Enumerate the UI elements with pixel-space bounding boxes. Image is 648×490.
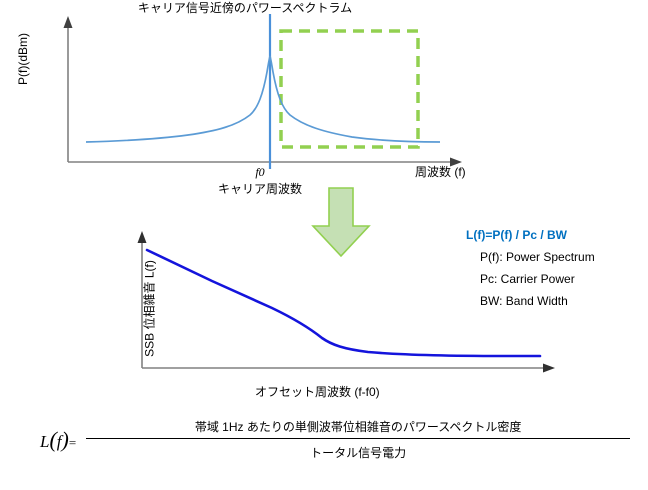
top-chart-y-axis-label: P(f)(dBm) [16, 14, 30, 104]
definition-legend: L(f)=P(f) / Pc / BW P(f): Power Spectrum… [466, 228, 648, 316]
formula-left-hand-side: L(f)= [40, 427, 86, 453]
legend-item-band-width: BW: Band Width [480, 294, 648, 308]
formula-denominator: トータル信号電力 [86, 439, 630, 461]
formula-lhs-equals: = [69, 435, 76, 450]
legend-item-power-spectrum: P(f): Power Spectrum [480, 250, 648, 264]
formula-lhs-open-paren: ( [49, 427, 56, 452]
formula-lhs-close-paren: ) [62, 427, 69, 452]
bottom-chart-y-axis-arrowhead [138, 231, 147, 243]
carrier-frequency-caption: キャリア周波数 [200, 180, 320, 197]
top-chart-x-axis-label: 周波数 (f) [415, 163, 466, 180]
bottom-chart-x-axis-arrowhead [543, 364, 555, 373]
phase-noise-definition-formula: L(f)= 帯域 1Hz あたりの単側波帯位相雑音のパワースペクトル密度 トータ… [40, 418, 630, 461]
top-chart-y-axis-arrowhead [64, 16, 73, 28]
power-spectrum-curve [86, 56, 440, 142]
legend-formula-title: L(f)=P(f) / Pc / BW [466, 228, 648, 242]
formula-numerator: 帯域 1Hz あたりの単側波帯位相雑音のパワースペクトル密度 [86, 418, 630, 438]
carrier-frequency-tick-label: f0 [235, 165, 285, 180]
measurement-box [281, 31, 418, 147]
formula-fraction: 帯域 1Hz あたりの単側波帯位相雑音のパワースペクトル密度 トータル信号電力 [86, 418, 630, 461]
power-spectrum-plot [48, 14, 468, 169]
bottom-chart-x-axis-label: オフセット周波数 (f-f0) [255, 383, 380, 400]
legend-item-carrier-power: Pc: Carrier Power [480, 272, 648, 286]
